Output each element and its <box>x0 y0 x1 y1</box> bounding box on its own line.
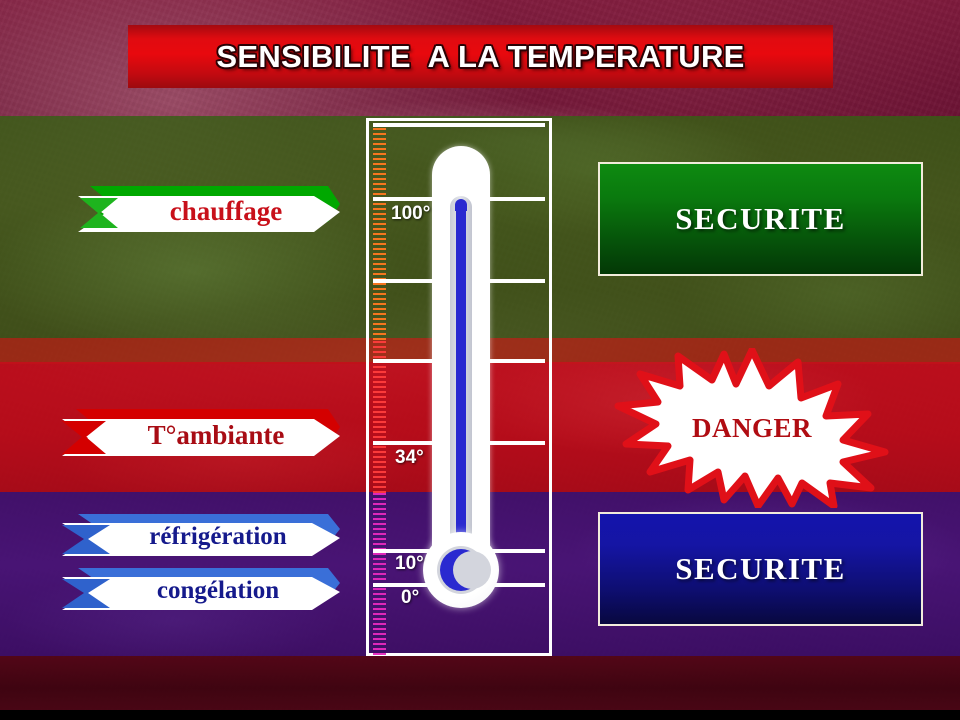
gridline-34-left <box>373 441 441 445</box>
thermometer-scale-ticks-middle <box>373 341 386 493</box>
callout-congelation[interactable]: congélation <box>62 566 340 616</box>
status-box-securite-chaud-label: SECURITE <box>675 201 846 237</box>
footer-band <box>0 656 960 710</box>
status-box-securite-chaud[interactable]: SECURITE <box>598 162 923 276</box>
gridline-2-left <box>373 279 441 283</box>
callout-t-ambiante[interactable]: T°ambiante <box>62 406 340 464</box>
gridline-100-left <box>373 197 441 201</box>
thermometer-diagram: 100° 34° 10° 0° <box>366 118 552 656</box>
thermometer-scale-ticks-upper <box>373 123 386 341</box>
tick-label-0: 0° <box>401 587 419 609</box>
starburst-icon <box>612 348 892 508</box>
chevron-arrow-icon <box>62 512 340 562</box>
gridline-top <box>373 123 545 127</box>
tick-label-34: 34° <box>395 447 424 469</box>
thermometer-mercury-tip <box>455 199 467 211</box>
chevron-arrow-icon <box>62 406 340 464</box>
tick-label-100: 100° <box>391 203 430 225</box>
callout-chauffage[interactable]: chauffage <box>78 182 340 240</box>
callout-refrigeration[interactable]: réfrigération <box>62 512 340 562</box>
chevron-arrow-icon <box>62 566 340 616</box>
tick-label-10: 10° <box>395 553 424 575</box>
status-box-securite-froid[interactable]: SECURITE <box>598 512 923 626</box>
status-box-securite-froid-label: SECURITE <box>675 551 846 587</box>
page-title: SENSIBILITE A LA TEMPERATURE <box>216 39 744 75</box>
danger-starburst[interactable]: DANGER <box>612 348 892 508</box>
title-banner: SENSIBILITE A LA TEMPERATURE <box>128 25 833 88</box>
gridline-3-left <box>373 359 441 363</box>
chevron-arrow-icon <box>78 182 340 240</box>
slide-canvas: SENSIBILITE A LA TEMPERATURE chauffage T… <box>0 0 960 720</box>
bottom-black-strip <box>0 710 960 720</box>
thermometer-scale-ticks-lower <box>373 493 386 655</box>
thermometer-bulb-crescent <box>440 549 482 591</box>
